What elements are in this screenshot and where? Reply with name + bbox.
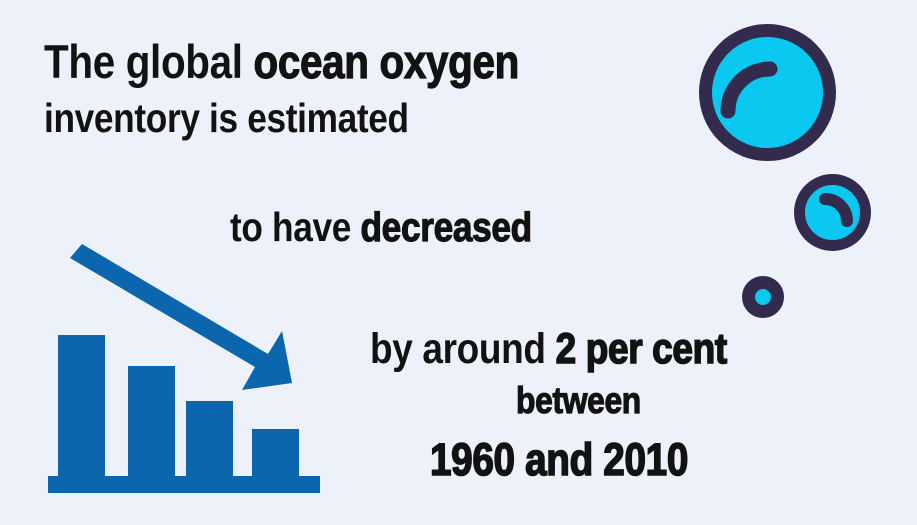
downward-trend-arrow-icon [40,230,330,505]
oxygen-bubble-large [699,24,836,161]
headline-line-1-emphasis: ocean oxygen [254,35,519,88]
headline-line-4: by around 2 per cent [370,328,727,371]
headline-line-4-emphasis: 2 per cent [556,325,727,373]
declining-bar-chart [40,230,330,505]
infographic-canvas: The global ocean oxygen inventory is est… [0,0,917,525]
headline-line-5: between [516,382,641,419]
headline-line-3-emphasis: decreased [360,204,531,250]
headline-line-6-years: 1960 and 2010 [430,437,688,482]
oxygen-bubble-small [742,276,784,318]
headline-line-2: inventory is estimated [44,98,409,139]
headline-line-4-normal: by around [370,325,556,373]
headline-line-1-normal: The global [44,35,254,88]
oxygen-bubble-medium [794,174,871,251]
headline-line-1: The global ocean oxygen [44,38,519,85]
bubble-highlight-arc-icon [712,37,823,148]
bubble-highlight-arc-icon [805,185,860,240]
